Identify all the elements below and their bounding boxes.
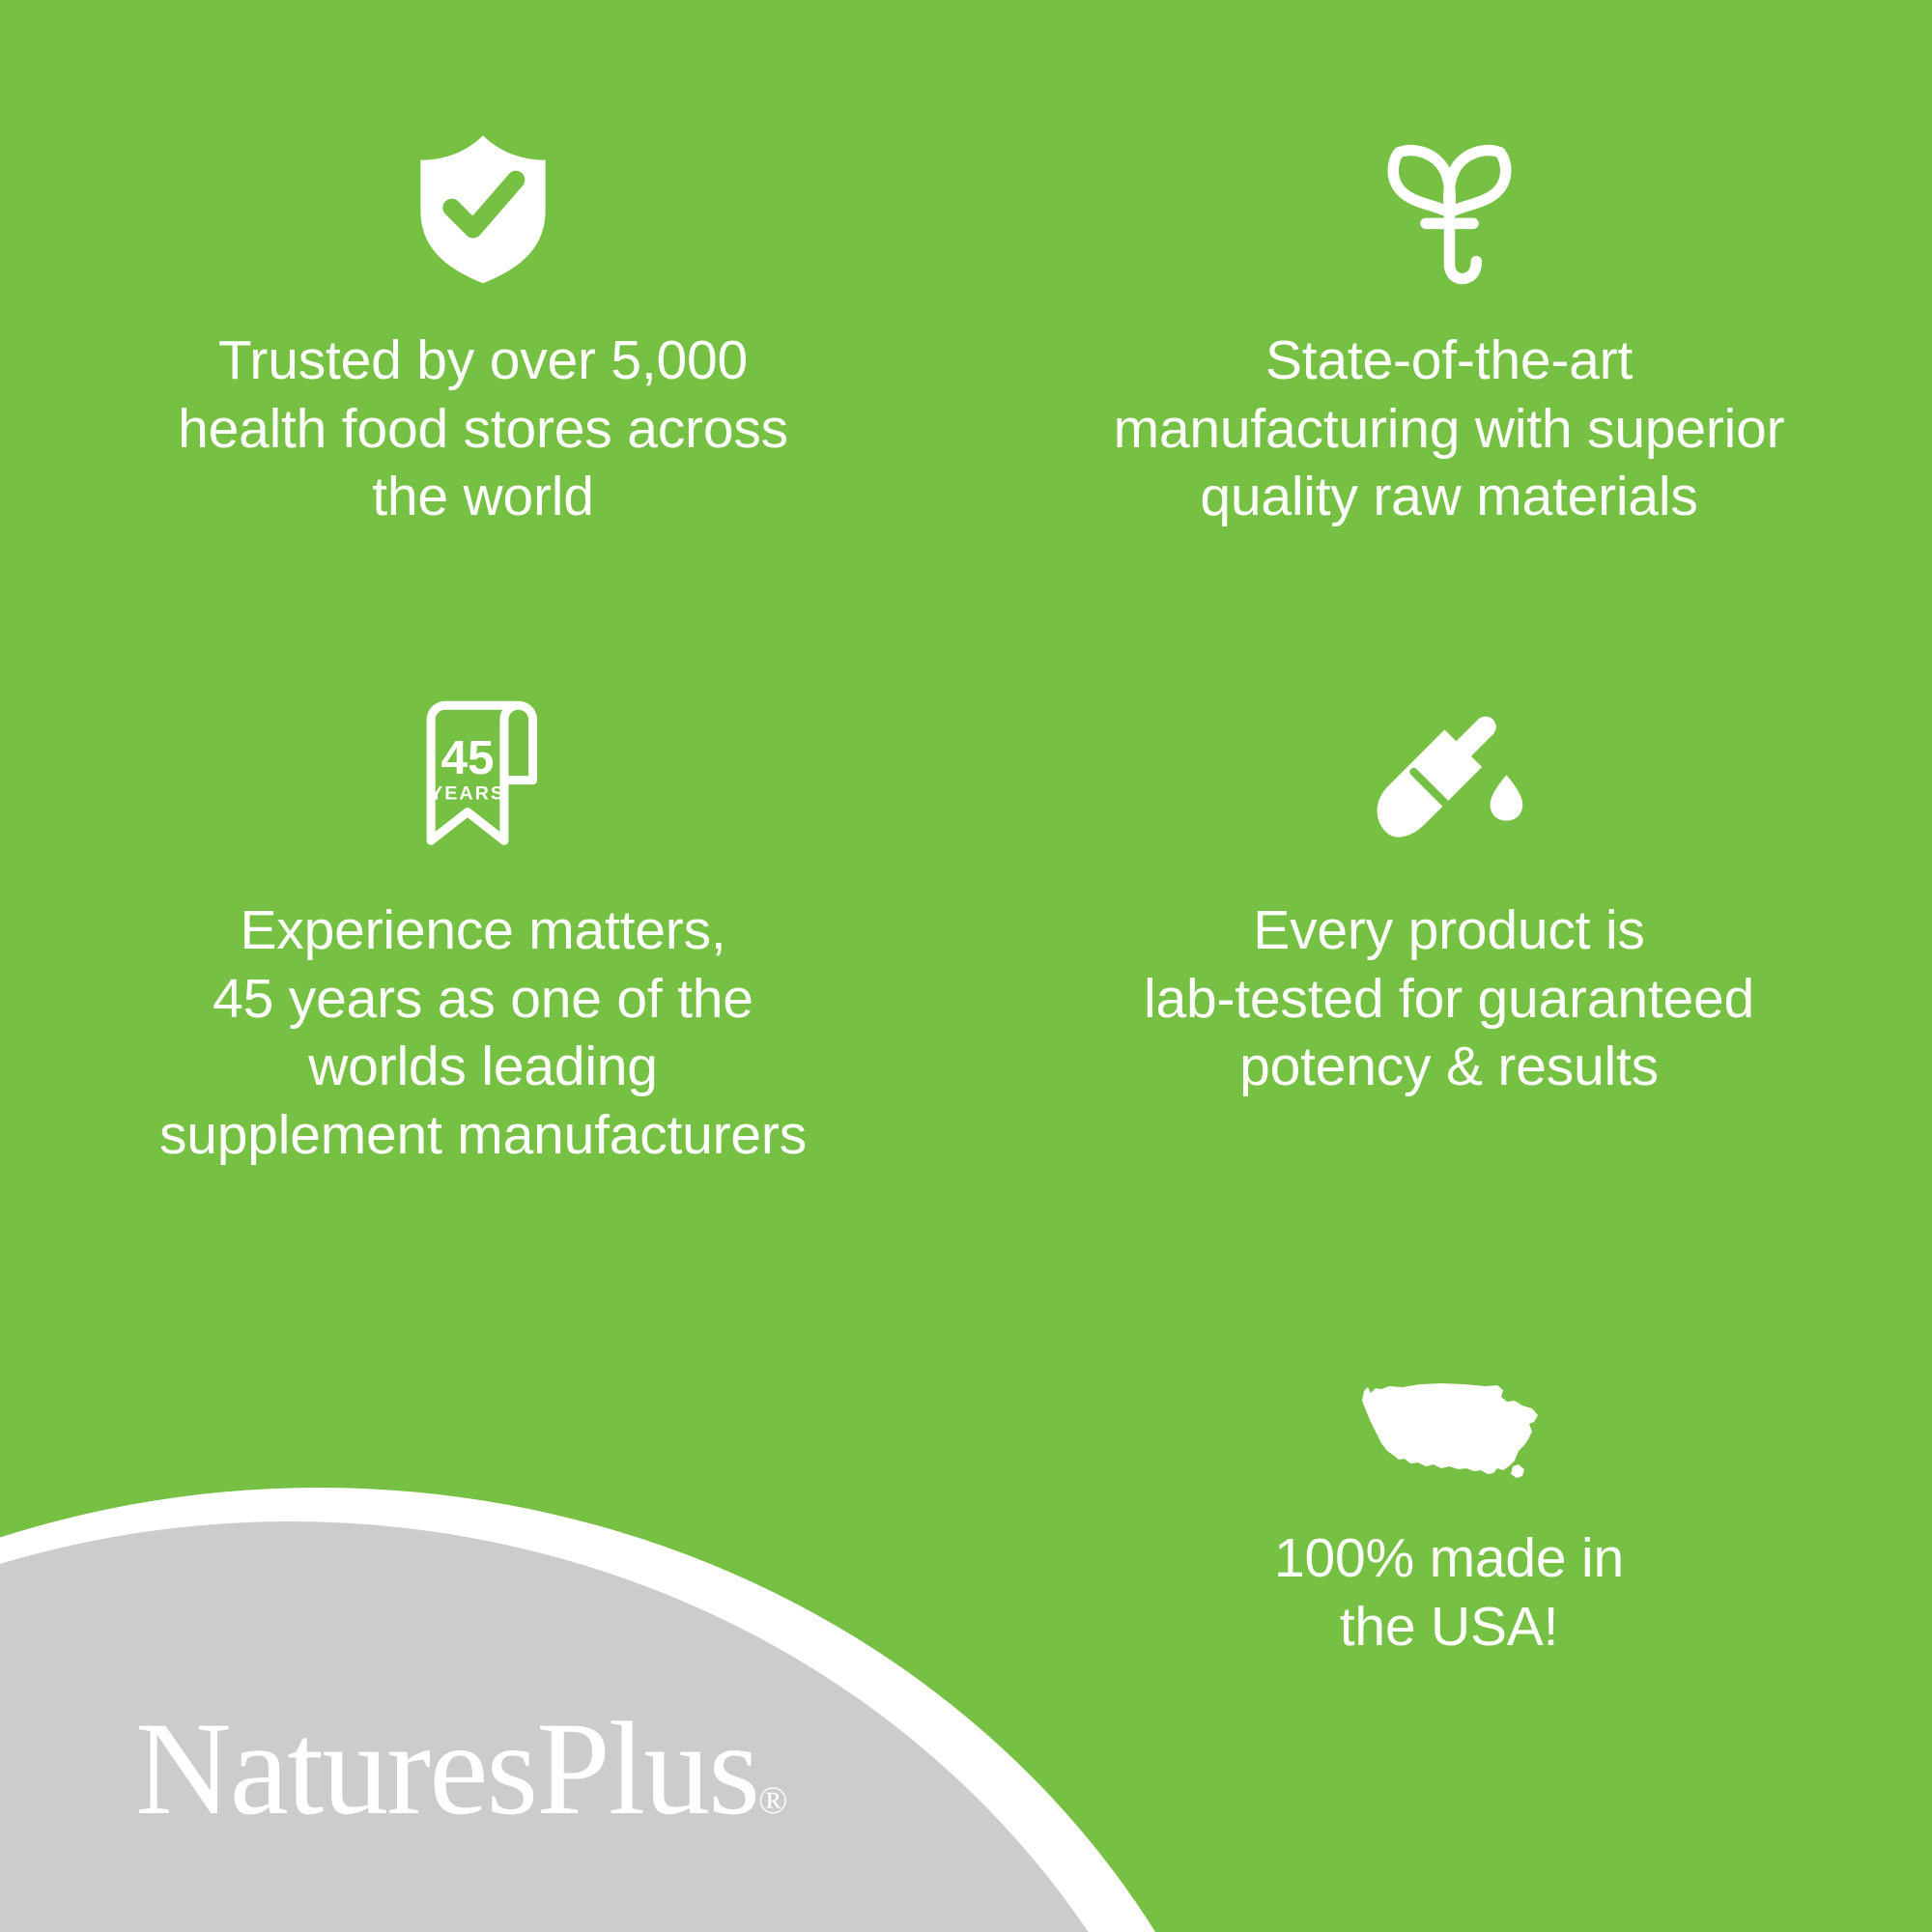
promo-poster: Trusted by over 5,000 health food stores… xyxy=(0,0,1932,1932)
feature-caption: 100% made in the USA! xyxy=(1274,1524,1624,1661)
sprout-icon xyxy=(1370,126,1529,290)
shield-check-icon xyxy=(401,126,565,290)
feature-grid: Trusted by over 5,000 health food stores… xyxy=(0,0,1932,1932)
bookmark-number: 45 xyxy=(440,731,494,784)
feature-block-experience: 45 YEARS Experience matters, 45 years as… xyxy=(0,696,966,1170)
test-tube-droplet-icon xyxy=(1365,696,1534,860)
registered-mark-icon: ® xyxy=(758,1778,787,1822)
brand-logo-name: NaturesPlus xyxy=(135,1694,758,1842)
feature-caption: Every product is lab-tested for guarante… xyxy=(1144,896,1754,1101)
feature-caption: Experience matters, 45 years as one of t… xyxy=(159,896,807,1170)
feature-block-lab-tested: Every product is lab-tested for guarante… xyxy=(966,696,1932,1101)
bookmark-unit: YEARS xyxy=(430,782,505,804)
feature-caption: State-of-the-art manufacturing with supe… xyxy=(1114,327,1785,531)
brand-logo: NaturesPlus® xyxy=(135,1702,787,1835)
feature-block-made-in-usa: 100% made in the USA! xyxy=(966,1323,1932,1661)
feature-caption: Trusted by over 5,000 health food stores… xyxy=(178,327,788,531)
feature-block-manufacturing: State-of-the-art manufacturing with supe… xyxy=(966,126,1932,531)
bookmark-45-years-icon: 45 YEARS xyxy=(409,696,558,860)
usa-map-icon xyxy=(1352,1323,1546,1488)
feature-block-trusted: Trusted by over 5,000 health food stores… xyxy=(0,126,966,531)
